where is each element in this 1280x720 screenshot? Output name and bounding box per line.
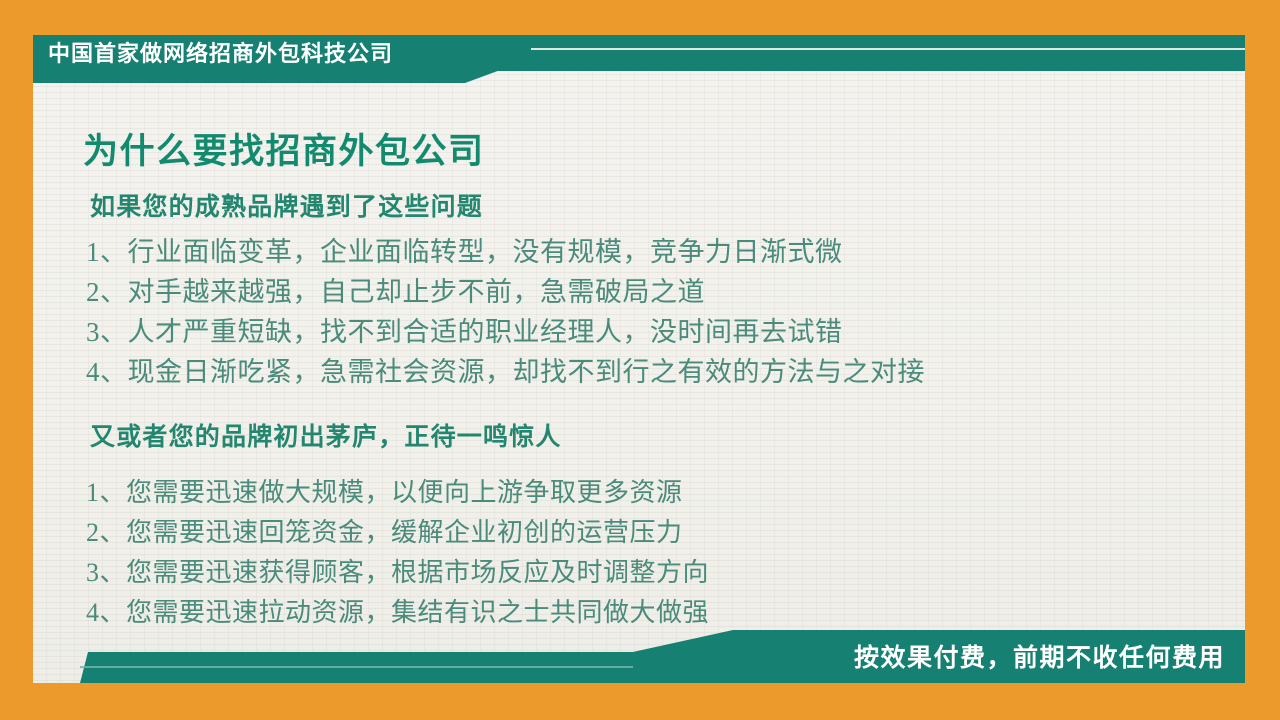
header-ribbon-hairline bbox=[531, 48, 1245, 50]
list-item: 2、您需要迅速回笼资金，缓解企业初创的运营压力 bbox=[86, 513, 709, 553]
footer-tagline: 按效果付费，前期不收任何费用 bbox=[854, 638, 1225, 674]
slide-canvas: 中国首家做网络招商外包科技公司 为什么要找招商外包公司 如果您的成熟品牌遇到了这… bbox=[0, 0, 1280, 720]
list-item: 1、行业面临变革，企业面临转型，没有规模，竞争力日渐式微 bbox=[86, 232, 925, 272]
list-item: 4、您需要迅速拉动资源，集结有识之士共同做大做强 bbox=[86, 593, 709, 633]
section-heading-1: 如果您的成熟品牌遇到了这些问题 bbox=[90, 187, 483, 223]
page-title: 为什么要找招商外包公司 bbox=[83, 123, 485, 174]
list-item: 1、您需要迅速做大规模，以便向上游争取更多资源 bbox=[86, 473, 709, 513]
slide-paper-background: 中国首家做网络招商外包科技公司 为什么要找招商外包公司 如果您的成熟品牌遇到了这… bbox=[33, 35, 1245, 683]
header-ribbon-tail bbox=[473, 35, 1245, 71]
section-list-1: 1、行业面临变革，企业面临转型，没有规模，竞争力日渐式微 2、对手越来越强，自己… bbox=[86, 232, 925, 392]
list-item: 2、对手越来越强，自己却止步不前，急需破局之道 bbox=[86, 272, 925, 312]
list-item: 4、现金日渐吃紧，急需社会资源，却找不到行之有效的方法与之对接 bbox=[86, 352, 925, 392]
header-ribbon-title: 中国首家做网络招商外包科技公司 bbox=[48, 36, 393, 72]
list-item: 3、您需要迅速获得顾客，根据市场反应及时调整方向 bbox=[86, 553, 709, 593]
section-list-2: 1、您需要迅速做大规模，以便向上游争取更多资源 2、您需要迅速回笼资金，缓解企业… bbox=[86, 473, 709, 633]
list-item: 3、人才严重短缺，找不到合适的职业经理人，没时间再去试错 bbox=[86, 312, 925, 352]
footer-ribbon-hairline bbox=[80, 666, 650, 668]
section-heading-2: 又或者您的品牌初出茅庐，正待一鸣惊人 bbox=[90, 417, 562, 453]
header-ribbon: 中国首家做网络招商外包科技公司 bbox=[33, 35, 503, 83]
